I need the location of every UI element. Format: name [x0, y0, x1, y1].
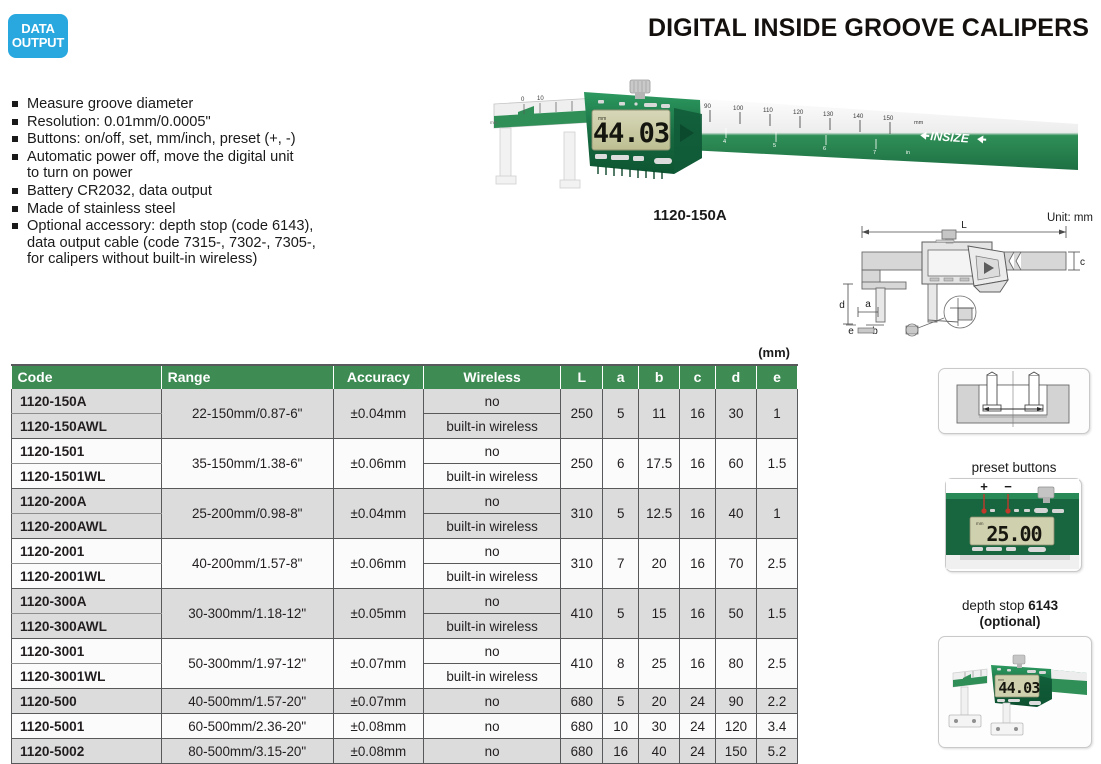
column-header-d: d [715, 366, 756, 389]
square-bullet-icon [12, 119, 18, 125]
preset-minus-button[interactable] [1005, 508, 1010, 513]
preset-plus-button[interactable] [981, 508, 986, 513]
depth-stop-plate-left [949, 715, 981, 727]
cell-code: 1120-1501WL [12, 464, 162, 489]
dim-label-d: d [839, 300, 845, 311]
table-row: 1120-200A 25-200mm/0.98-8" ±0.04mm no 31… [12, 489, 798, 514]
feature-text-cont: data output cable (code 7315-, 7302-, 73… [27, 235, 400, 252]
svg-text:6: 6 [823, 146, 826, 152]
cell-wireless: no [423, 739, 560, 764]
cell-c: 24 [680, 739, 716, 764]
cell-b: 17.5 [639, 439, 680, 489]
column-header-c: c [680, 366, 716, 389]
scale-tick-90: 90 [704, 103, 711, 110]
table-row: 1120-500 40-500mm/1.57-20" ±0.07mm no 68… [12, 689, 798, 714]
cell-wireless: no [423, 439, 560, 464]
cell-b: 30 [639, 714, 680, 739]
cell-wireless: built-in wireless [423, 564, 560, 589]
lcd-value: 44.03 [593, 118, 669, 149]
cell-e: 3.4 [756, 714, 797, 739]
cell-wireless: built-in wireless [423, 514, 560, 539]
cell-b: 11 [639, 389, 680, 439]
table-row: 1120-2001 40-200mm/1.57-8" ±0.06mm no 31… [12, 539, 798, 564]
dim-label-e: e [848, 326, 854, 337]
cell-wireless: built-in wireless [423, 664, 560, 689]
cell-d: 90 [715, 689, 756, 714]
scale-unit-small: mm [490, 120, 498, 125]
cell-code: 1120-3001 [12, 639, 162, 664]
cell-code: 1120-2001WL [12, 564, 162, 589]
preset-buttons-panel: + − mm 25.00 [945, 478, 1082, 572]
cell-a: 10 [603, 714, 639, 739]
table-body: 1120-150A 22-150mm/0.87-6" ±0.04mm no 25… [12, 389, 798, 764]
cell-e: 5.2 [756, 739, 797, 764]
cell-code: 1120-150AWL [12, 414, 162, 439]
column-header-code: Code [12, 366, 162, 389]
column-header-wireless: Wireless [423, 366, 560, 389]
cell-range: 40-200mm/1.57-8" [161, 539, 333, 589]
table-row: 1120-5001 60-500mm/2.36-20" ±0.08mm no 6… [12, 714, 798, 739]
feature-text: Automatic power off, move the digital un… [27, 149, 294, 165]
badge-line-1: DATA [21, 22, 54, 36]
cell-b: 15 [639, 589, 680, 639]
product-photo: 0 10 mm 90 100 110 120 130 140 150 mm [478, 62, 1088, 207]
cell-b: 25 [639, 639, 680, 689]
list-item: Battery CR2032, data output [10, 183, 400, 200]
list-item: Made of stainless steel [10, 201, 400, 218]
cell-range: 22-150mm/0.87-6" [161, 389, 333, 439]
cell-a: 5 [603, 489, 639, 539]
cell-b: 12.5 [639, 489, 680, 539]
cell-e: 1 [756, 489, 797, 539]
square-bullet-icon [12, 206, 18, 212]
cell-wireless: no [423, 539, 560, 564]
page-title: DIGITAL INSIDE GROOVE CALIPERS [648, 14, 1089, 43]
scale-tick-130: 130 [823, 111, 834, 118]
svg-text:mm: mm [976, 521, 984, 526]
preset-plus-label: + [980, 479, 988, 494]
cell-L: 410 [561, 639, 603, 689]
cell-L: 410 [561, 589, 603, 639]
cell-range: 80-500mm/3.15-20" [161, 739, 333, 764]
table-row: 1120-3001 50-300mm/1.97-12" ±0.07mm no 4… [12, 639, 798, 664]
scale-tick-110: 110 [763, 107, 773, 114]
table-row: 1120-150A 22-150mm/0.87-6" ±0.04mm no 25… [12, 389, 798, 414]
cell-code: 1120-150A [12, 389, 162, 414]
cell-d: 70 [715, 539, 756, 589]
cell-a: 6 [603, 439, 639, 489]
preset-lcd-value: 25.00 [986, 522, 1041, 546]
product-caption: 1120-150A [600, 207, 780, 224]
column-header-e: e [756, 366, 797, 389]
cell-wireless: no [423, 639, 560, 664]
cell-d: 120 [715, 714, 756, 739]
scale-unit-mm: mm [914, 120, 924, 126]
cell-accuracy: ±0.07mm [333, 639, 423, 689]
feature-text-cont2: for calipers without built-in wireless) [27, 251, 400, 268]
dim-label-c: c [1080, 257, 1085, 268]
cell-code: 1120-200AWL [12, 514, 162, 539]
svg-text:4: 4 [723, 139, 726, 145]
cell-e: 1.5 [756, 439, 797, 489]
cell-accuracy: ±0.06mm [333, 539, 423, 589]
cell-c: 16 [680, 639, 716, 689]
feature-text: Measure groove diameter [27, 96, 193, 112]
cell-wireless: no [423, 714, 560, 739]
depth-stop-lcd-value: 44.03 [998, 679, 1040, 697]
preset-buttons-caption: preset buttons [930, 460, 1098, 475]
cell-wireless: no [423, 589, 560, 614]
cell-accuracy: ±0.06mm [333, 439, 423, 489]
cell-e: 2.5 [756, 639, 797, 689]
cell-accuracy: ±0.04mm [333, 389, 423, 439]
cell-a: 8 [603, 639, 639, 689]
cell-code: 1120-3001WL [12, 664, 162, 689]
dim-label-a: a [865, 299, 871, 310]
depth-stop-optional-label: (optional) [980, 614, 1041, 629]
cell-a: 5 [603, 689, 639, 714]
table-row: 1120-5002 80-500mm/3.15-20" ±0.08mm no 6… [12, 739, 798, 764]
dim-label-L: L [961, 220, 967, 231]
table-row: 1120-1501 35-150mm/1.38-6" ±0.06mm no 25… [12, 439, 798, 464]
cell-e: 2.5 [756, 539, 797, 589]
scale-tick-10: 10 [537, 96, 544, 102]
cell-c: 16 [680, 489, 716, 539]
feature-text: Resolution: 0.01mm/0.0005" [27, 114, 211, 130]
square-bullet-icon [12, 101, 18, 107]
cell-c: 16 [680, 389, 716, 439]
cell-accuracy: ±0.07mm [333, 689, 423, 714]
table-row: 1120-300A 30-300mm/1.18-12" ±0.05mm no 4… [12, 589, 798, 614]
depth-stop-caption-prefix: depth stop [962, 598, 1028, 613]
depth-stop-panel: mm 44.03 [938, 636, 1092, 748]
list-item: Automatic power off, move the digital un… [10, 149, 400, 182]
list-item: Resolution: 0.01mm/0.0005" [10, 114, 400, 131]
cell-code: 1120-300AWL [12, 614, 162, 639]
cell-wireless: built-in wireless [423, 464, 560, 489]
spec-table: Code Range Accuracy Wireless L a b c d e… [11, 366, 798, 764]
cell-wireless: no [423, 489, 560, 514]
data-output-badge: DATA OUTPUT [8, 14, 68, 58]
feature-text-cont: to turn on power [27, 165, 400, 182]
cell-range: 40-500mm/1.57-20" [161, 689, 333, 714]
cell-e: 1 [756, 389, 797, 439]
cell-a: 5 [603, 389, 639, 439]
cell-L: 680 [561, 689, 603, 714]
scale-tick-140: 140 [853, 113, 864, 120]
groove-diagram-panel [938, 368, 1090, 434]
scale-tick-100: 100 [733, 105, 744, 112]
column-header-b: b [639, 366, 680, 389]
depth-stop-code: 6143 [1028, 598, 1058, 613]
cell-range: 30-300mm/1.18-12" [161, 589, 333, 639]
svg-text:7: 7 [873, 150, 876, 156]
cell-c: 16 [680, 539, 716, 589]
brand-logo: INSIZE [930, 129, 971, 146]
feature-list: Measure groove diameter Resolution: 0.01… [10, 96, 400, 269]
cell-a: 5 [603, 589, 639, 639]
cell-range: 25-200mm/0.98-8" [161, 489, 333, 539]
square-bullet-icon [12, 188, 18, 194]
cell-code: 1120-500 [12, 689, 162, 714]
cell-range: 60-500mm/2.36-20" [161, 714, 333, 739]
cell-code: 1120-1501 [12, 439, 162, 464]
cell-wireless: no [423, 689, 560, 714]
scale-tick-120: 120 [793, 109, 804, 116]
preset-minus-label: − [1004, 479, 1012, 494]
list-item: Optional accessory: depth stop (code 614… [10, 218, 400, 268]
cell-c: 16 [680, 589, 716, 639]
cell-L: 310 [561, 489, 603, 539]
cell-code: 1120-300A [12, 589, 162, 614]
feature-text: Optional accessory: depth stop (code 614… [27, 218, 313, 234]
cell-range: 50-300mm/1.97-12" [161, 639, 333, 689]
cell-accuracy: ±0.05mm [333, 589, 423, 639]
depth-stop-caption: depth stop 6143 (optional) [920, 598, 1100, 629]
cell-d: 80 [715, 639, 756, 689]
cell-L: 250 [561, 439, 603, 489]
table-header-row: Code Range Accuracy Wireless L a b c d e [12, 366, 798, 389]
column-header-a: a [603, 366, 639, 389]
list-item: Measure groove diameter [10, 96, 400, 113]
cell-wireless: no [423, 389, 560, 414]
feature-text: Battery CR2032, data output [27, 183, 212, 199]
cell-range: 35-150mm/1.38-6" [161, 439, 333, 489]
cell-code: 1120-5002 [12, 739, 162, 764]
cell-b: 40 [639, 739, 680, 764]
feature-text: Made of stainless steel [27, 201, 175, 217]
cell-accuracy: ±0.08mm [333, 739, 423, 764]
depth-stop-plate-right [991, 723, 1023, 735]
column-header-accuracy: Accuracy [333, 366, 423, 389]
table-unit-note: (mm) [11, 345, 798, 360]
dimension-drawing: L c [818, 212, 1094, 340]
cell-wireless: built-in wireless [423, 414, 560, 439]
square-bullet-icon [12, 154, 18, 160]
cell-accuracy: ±0.04mm [333, 489, 423, 539]
cell-a: 7 [603, 539, 639, 589]
cell-accuracy: ±0.08mm [333, 714, 423, 739]
cell-d: 30 [715, 389, 756, 439]
svg-text:5: 5 [773, 143, 776, 149]
cell-a: 16 [603, 739, 639, 764]
cell-L: 310 [561, 539, 603, 589]
cell-wireless: built-in wireless [423, 614, 560, 639]
cell-c: 24 [680, 714, 716, 739]
svg-text:in: in [906, 150, 910, 156]
list-item: Buttons: on/off, set, mm/inch, preset (+… [10, 131, 400, 148]
column-header-range: Range [161, 366, 333, 389]
cell-L: 250 [561, 389, 603, 439]
cell-d: 150 [715, 739, 756, 764]
cell-d: 40 [715, 489, 756, 539]
cell-code: 1120-5001 [12, 714, 162, 739]
cell-d: 60 [715, 439, 756, 489]
column-header-L: L [561, 366, 603, 389]
cell-code: 1120-200A [12, 489, 162, 514]
cell-b: 20 [639, 539, 680, 589]
square-bullet-icon [12, 223, 18, 229]
cell-e: 1.5 [756, 589, 797, 639]
square-bullet-icon [12, 136, 18, 142]
cell-code: 1120-2001 [12, 539, 162, 564]
cell-b: 20 [639, 689, 680, 714]
cell-L: 680 [561, 739, 603, 764]
scale-tick-150: 150 [883, 115, 894, 122]
cell-d: 50 [715, 589, 756, 639]
cell-L: 680 [561, 714, 603, 739]
cell-c: 24 [680, 689, 716, 714]
cell-c: 16 [680, 439, 716, 489]
cell-e: 2.2 [756, 689, 797, 714]
feature-text: Buttons: on/off, set, mm/inch, preset (+… [27, 131, 296, 147]
badge-line-2: OUTPUT [12, 36, 64, 50]
